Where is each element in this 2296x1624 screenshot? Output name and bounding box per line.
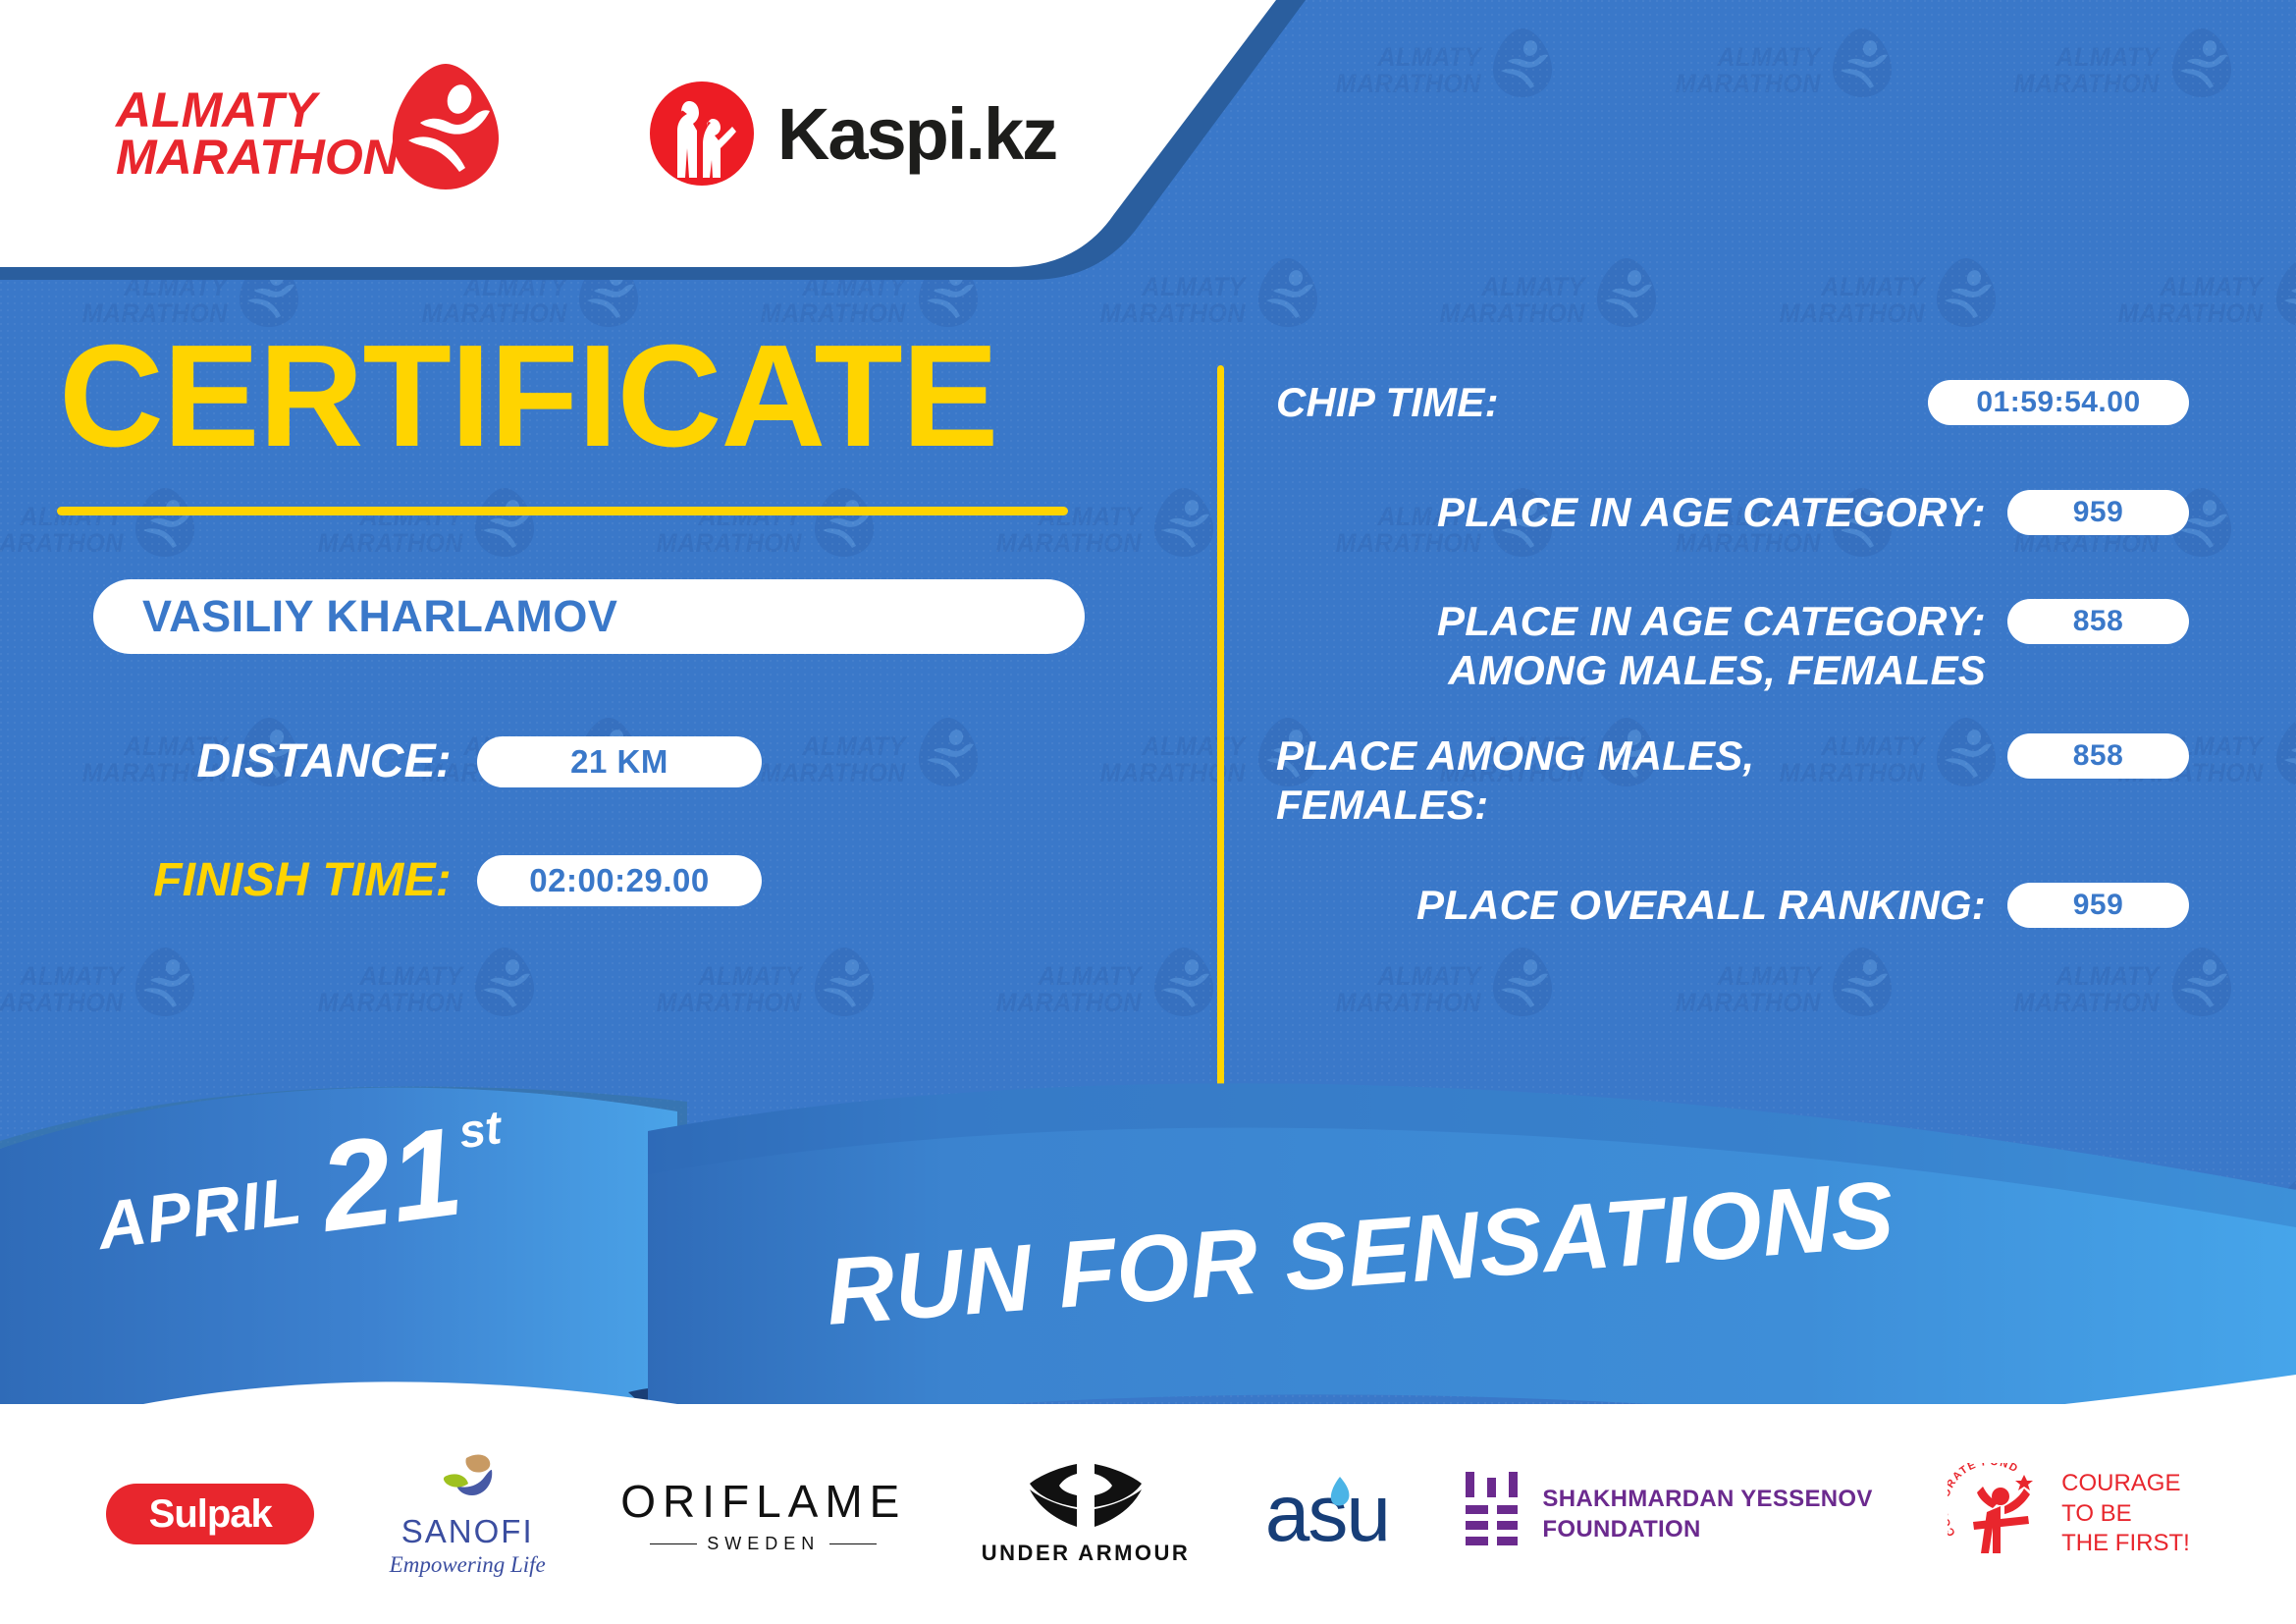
sanofi-wordmark: SANOFI (401, 1513, 534, 1550)
watermark-logo: ALMATYMARATHON (990, 947, 1213, 1017)
sulpak-logo: Sulpak (106, 1484, 314, 1544)
shakhmardan-yessenov-foundation-logo (1464, 1472, 1521, 1556)
watermark-line1: ALMATY (0, 963, 124, 991)
watermark-runner-drop-icon (2275, 257, 2296, 328)
watermark-runner-drop-icon (2171, 27, 2232, 98)
watermark-text: ALMATYMARATHON (996, 963, 1142, 1017)
place-age-category-among-value: 858 (2073, 605, 2124, 638)
place-among-males-females-line1: PLACE AMONG MALES, (1276, 731, 1754, 781)
sponsor-sanofi: SANOFI Empowering Life (390, 1450, 546, 1578)
page-title: CERTIFICATE (59, 324, 1158, 469)
certificate-page: ALMATYMARATHONALMATYMARATHONALMATYMARATH… (0, 0, 2296, 1624)
watermark-logo: ALMATYMARATHON (2008, 947, 2231, 1017)
watermark-logo: ALMATYMARATHON (312, 947, 535, 1017)
watermark-line1: ALMATY (1675, 44, 1820, 72)
sanofi-logo (437, 1450, 498, 1511)
stat-row-place-age-category-among: PLACE IN AGE CATEGORY: AMONG MALES, FEMA… (1276, 597, 2189, 696)
oriflame-subtitle: SWEDEN (707, 1534, 820, 1554)
place-among-males-females-value: 858 (2073, 739, 2124, 773)
oriflame-subtitle-row: SWEDEN (650, 1534, 877, 1554)
watermark-line1: ALMATY (2014, 44, 2160, 72)
watermark-runner-drop-icon (1832, 27, 1893, 98)
watermark-tile: ALMATYMARATHON (1997, 0, 2296, 230)
watermark-text: ALMATYMARATHON (317, 963, 462, 1017)
oriflame-rule-right (829, 1543, 877, 1544)
runner-drop-icon (391, 62, 501, 191)
watermark-line1: ALMATY (317, 963, 462, 991)
vertical-divider (1217, 365, 1224, 1097)
watermark-line2: MARATHON (996, 990, 1142, 1017)
finish-time-value: 02:00:29.00 (529, 862, 709, 899)
oriflame-wordmark: ORIFLAME (620, 1475, 906, 1528)
distance-label: DISTANCE: (93, 734, 452, 788)
kaspi-wordmark: Kaspi.kz (777, 92, 1056, 176)
watermark-line2: MARATHON (657, 990, 802, 1017)
kaspi-logo: Kaspi.kz (648, 80, 1056, 188)
title-divider (57, 507, 1068, 515)
watermark-logo: ALMATYMARATHON (0, 947, 195, 1017)
watermark-runner-drop-icon (1153, 487, 1214, 558)
place-overall-ranking-value-field: 959 (2007, 883, 2189, 928)
courage-wordmark: COURAGE TO BE THE FIRST! (2061, 1469, 2190, 1559)
under-armour-wordmark: UNDER ARMOUR (982, 1541, 1191, 1566)
almaty-marathon-line2: MARATHON (116, 134, 399, 181)
place-age-category-among-value-field: 858 (2007, 599, 2189, 644)
chip-time-value-field: 01:59:54.00 (1928, 380, 2189, 425)
header-logo-row: ALMATY MARATHON Kaspi.kz (0, 0, 1178, 267)
shakhmardan-wordmark: SHAKHMARDAN YESSENOV FOUNDATION (1542, 1484, 1872, 1544)
sponsor-oriflame: ORIFLAME SWEDEN (620, 1475, 906, 1554)
watermark-line2: MARATHON (1335, 990, 1480, 1017)
finish-time-row: FINISH TIME: 02:00:29.00 (93, 853, 1158, 907)
distance-row: DISTANCE: 21 KM (93, 734, 1158, 788)
watermark-line2: MARATHON (1675, 71, 1820, 98)
sponsor-bar: Sulpak SANOFI Empowering Life ORIFLAME S… (0, 1404, 2296, 1624)
courage-line2: TO BE (2061, 1499, 2190, 1530)
watermark-logo: ALMATYMARATHON (1434, 257, 1657, 328)
place-age-category-value-field: 959 (2007, 490, 2189, 535)
watermark-logo: ALMATYMARATHON (2112, 257, 2296, 328)
event-day-suffix: st (455, 1101, 505, 1160)
watermark-text: ALMATYMARATHON (1675, 44, 1820, 98)
watermark-logo: ALMATYMARATHON (651, 947, 874, 1017)
place-age-category-value: 959 (2073, 496, 2124, 529)
place-among-males-females-value-field: 858 (2007, 733, 2189, 779)
chip-time-label: CHIP TIME: (1276, 378, 1499, 427)
watermark-tile: ALMATYMARATHON (1658, 0, 1998, 230)
kaspi-people-circle-icon (648, 80, 756, 188)
participant-name-field: VASILIY KHARLAMOV (93, 579, 1085, 654)
place-age-category-label: PLACE IN AGE CATEGORY: (1437, 488, 1986, 537)
watermark-runner-drop-icon (474, 947, 535, 1017)
sponsor-courage-fund: CORPORATE FUND COURAGE TO BE THE FIRST! (1948, 1463, 2190, 1565)
stat-row-chip-time: CHIP TIME: 01:59:54.00 (1276, 378, 2189, 427)
watermark-line2: MARATHON (2014, 990, 2160, 1017)
event-day: 21 (315, 1117, 468, 1243)
watermark-runner-drop-icon (1832, 947, 1893, 1017)
watermark-line2: MARATHON (1439, 300, 1584, 328)
sponsor-under-armour: UNDER ARMOUR (982, 1462, 1191, 1566)
watermark-text: ALMATYMARATHON (2014, 963, 2160, 1017)
sponsor-sulpak: Sulpak (106, 1484, 314, 1544)
distance-value: 21 KM (570, 743, 668, 781)
place-overall-ranking-value: 959 (2073, 889, 2124, 922)
watermark-runner-drop-icon (1492, 947, 1553, 1017)
courage-line3: THE FIRST! (2061, 1529, 2190, 1559)
watermark-runner-drop-icon (1936, 257, 1997, 328)
watermark-line2: MARATHON (2118, 300, 2264, 328)
certificate-left-column: CERTIFICATE VASILIY KHARLAMOV DISTANCE: … (0, 324, 1158, 907)
watermark-line2: MARATHON (1675, 990, 1820, 1017)
watermark-runner-drop-icon (1492, 27, 1553, 98)
watermark-text: ALMATYMARATHON (1335, 963, 1480, 1017)
watermark-logo: ALMATYMARATHON (1774, 257, 1997, 328)
shakhmardan-line2: FOUNDATION (1542, 1514, 1872, 1544)
place-among-males-females-label: PLACE AMONG MALES, FEMALES: (1276, 731, 1754, 831)
watermark-line1: ALMATY (2118, 274, 2264, 301)
watermark-runner-drop-icon (1596, 257, 1657, 328)
asu-droplet-icon (1326, 1476, 1352, 1509)
watermark-line1: ALMATY (1779, 274, 1924, 301)
watermark-text: ALMATYMARATHON (2014, 44, 2160, 98)
stat-row-place-age-category: PLACE IN AGE CATEGORY: 959 (1276, 488, 2189, 537)
watermark-text: ALMATYMARATHON (2118, 274, 2264, 328)
sulpak-wordmark: Sulpak (149, 1492, 272, 1537)
shakhmardan-line1: SHAKHMARDAN YESSENOV (1542, 1484, 1872, 1514)
watermark-runner-drop-icon (134, 947, 195, 1017)
watermark-runner-drop-icon (1153, 947, 1214, 1017)
place-among-males-females-line2: FEMALES: (1276, 781, 1754, 830)
watermark-runner-drop-icon (2275, 717, 2296, 787)
place-overall-ranking-label: PLACE OVERALL RANKING: (1416, 881, 1986, 930)
place-age-category-among-label: PLACE IN AGE CATEGORY: AMONG MALES, FEMA… (1437, 597, 1986, 696)
watermark-line1: ALMATY (2014, 963, 2160, 991)
watermark-line1: ALMATY (996, 963, 1142, 991)
watermark-line2: MARATHON (0, 990, 124, 1017)
stat-row-place-overall-ranking: PLACE OVERALL RANKING: 959 (1276, 881, 2189, 930)
results-stats-panel: CHIP TIME: 01:59:54.00 PLACE IN AGE CATE… (1276, 378, 2189, 931)
watermark-line2: MARATHON (317, 990, 462, 1017)
watermark-text: ALMATYMARATHON (1675, 963, 1820, 1017)
watermark-line2: MARATHON (1779, 300, 1924, 328)
watermark-logo: ALMATYMARATHON (2008, 27, 2231, 98)
watermark-text: ALMATYMARATHON (1779, 274, 1924, 328)
watermark-runner-drop-icon (2171, 947, 2232, 1017)
almaty-marathon-wordmark: ALMATY MARATHON (116, 86, 399, 181)
courage-line1: COURAGE (2061, 1469, 2190, 1499)
watermark-text: ALMATYMARATHON (1439, 274, 1584, 328)
distance-value-field: 21 KM (477, 736, 762, 787)
watermark-logo: ALMATYMARATHON (1330, 947, 1553, 1017)
place-age-category-among-line1: PLACE IN AGE CATEGORY: (1437, 597, 1986, 646)
stat-row-place-among-males-females: PLACE AMONG MALES, FEMALES: 858 (1276, 731, 2189, 831)
watermark-text: ALMATYMARATHON (657, 963, 802, 1017)
courage-to-be-the-first-logo: CORPORATE FUND (1948, 1463, 2050, 1565)
place-age-category-among-line2: AMONG MALES, FEMALES (1437, 646, 1986, 695)
sponsor-shakhmardan-yessenov-foundation: SHAKHMARDAN YESSENOV FOUNDATION (1464, 1472, 1872, 1556)
watermark-line1: ALMATY (1675, 963, 1820, 991)
watermark-logo: ALMATYMARATHON (1670, 947, 1893, 1017)
watermark-text: ALMATYMARATHON (0, 963, 124, 1017)
sponsor-asu: asu (1265, 1468, 1389, 1560)
watermark-line1: ALMATY (1335, 963, 1480, 991)
event-month: APRIL (93, 1162, 306, 1265)
under-armour-logo (1028, 1462, 1144, 1533)
watermark-logo: ALMATYMARATHON (1670, 27, 1893, 98)
sanofi-tagline: Empowering Life (390, 1552, 546, 1578)
almaty-marathon-logo: ALMATY MARATHON (116, 62, 501, 205)
participant-name-value: VASILIY KHARLAMOV (142, 591, 617, 642)
oriflame-rule-left (650, 1543, 697, 1544)
finish-time-value-field: 02:00:29.00 (477, 855, 762, 906)
watermark-runner-drop-icon (814, 947, 875, 1017)
watermark-line2: MARATHON (2014, 71, 2160, 98)
chip-time-value: 01:59:54.00 (1976, 386, 2140, 419)
finish-time-label: FINISH TIME: (93, 853, 452, 907)
watermark-line1: ALMATY (1439, 274, 1584, 301)
watermark-line1: ALMATY (657, 963, 802, 991)
